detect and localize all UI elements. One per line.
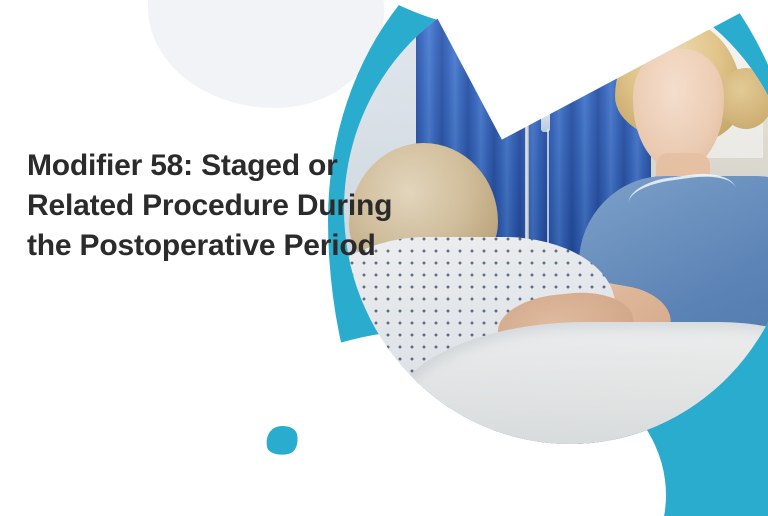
photo-shading-overlay	[344, 0, 768, 444]
hero-photo-scene	[344, 0, 768, 444]
teal-triangle-accent-icon	[263, 423, 300, 458]
hero-banner: Modifier 58: Staged or Related Procedure…	[0, 0, 768, 516]
page-title: Modifier 58: Staged or Related Procedure…	[27, 146, 397, 266]
hero-photo	[344, 0, 768, 444]
